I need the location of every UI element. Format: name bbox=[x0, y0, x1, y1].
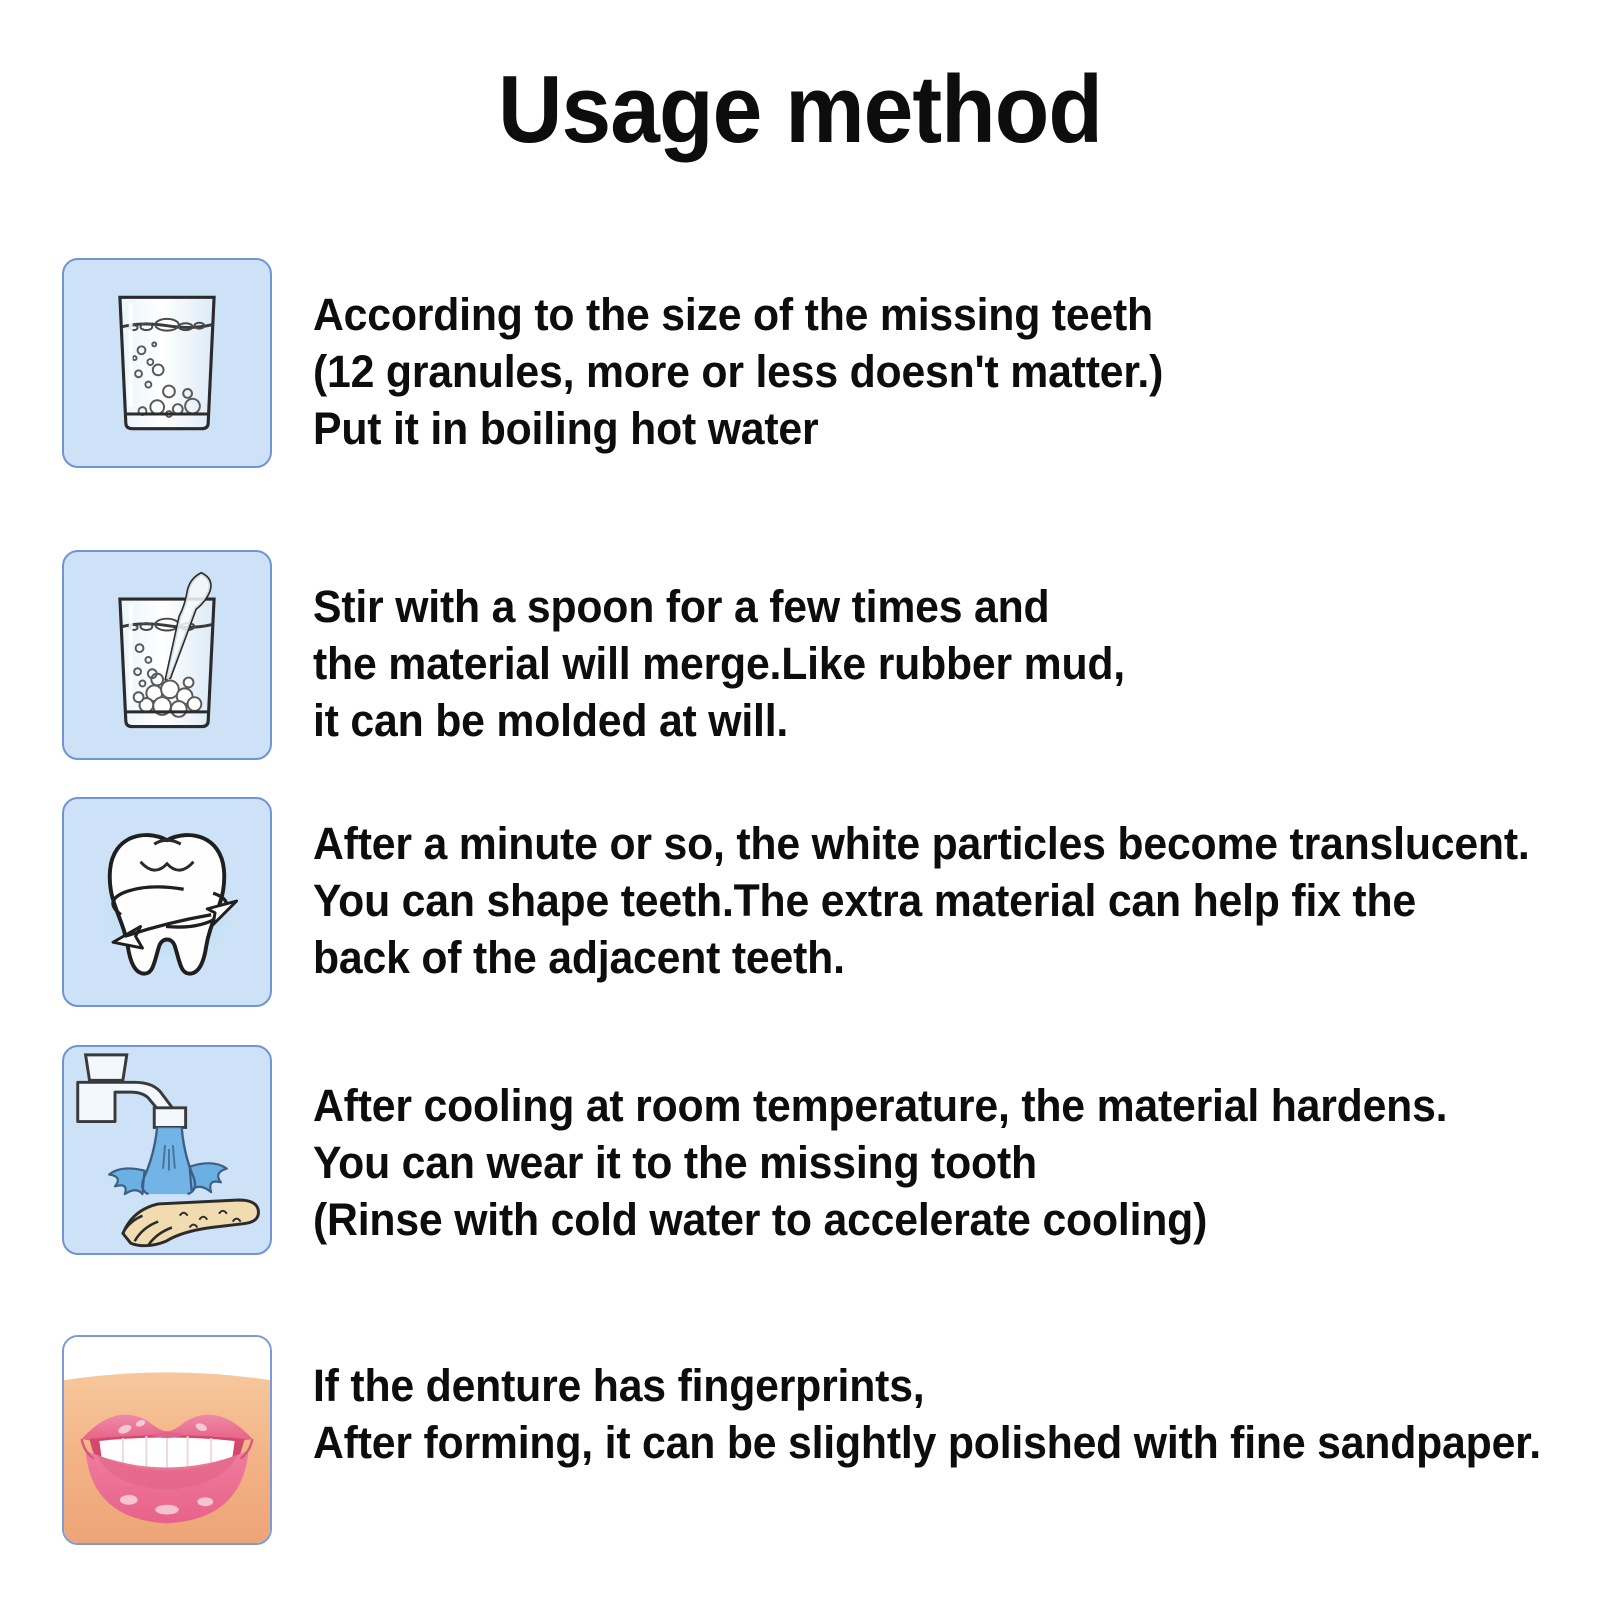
step-line: After a minute or so, the white particle… bbox=[313, 815, 1530, 872]
step-line: back of the adjacent teeth. bbox=[313, 929, 1530, 986]
step-line: Stir with a spoon for a few times and bbox=[313, 578, 1125, 635]
step-line: You can shape teeth.The extra material c… bbox=[313, 872, 1530, 929]
step-item: After a minute or so, the white particle… bbox=[0, 785, 1600, 1035]
step-line: Put it in boiling hot water bbox=[313, 400, 1163, 457]
glass-of-boiling-water-icon bbox=[62, 258, 272, 468]
page-title: Usage method bbox=[56, 62, 1544, 158]
faucet-rinsing-hands-icon bbox=[62, 1045, 272, 1255]
step-line: After cooling at room temperature, the m… bbox=[313, 1077, 1447, 1134]
step-line: You can wear it to the missing tooth bbox=[313, 1134, 1447, 1191]
step-line: (Rinse with cold water to accelerate coo… bbox=[313, 1191, 1447, 1248]
steps-list: According to the size of the missing tee… bbox=[0, 258, 1600, 1537]
step-line: If the denture has fingerprints, bbox=[313, 1357, 1541, 1414]
step-text: After a minute or so, the white particle… bbox=[313, 815, 1530, 986]
step-text: After cooling at room temperature, the m… bbox=[313, 1077, 1447, 1248]
step-item: After cooling at room temperature, the m… bbox=[0, 1035, 1600, 1297]
step-item: According to the size of the missing tee… bbox=[0, 258, 1600, 533]
step-line: (12 granules, more or less doesn't matte… bbox=[313, 343, 1163, 400]
step-line: According to the size of the missing tee… bbox=[313, 286, 1163, 343]
step-item: If the denture has fingerprints, After f… bbox=[0, 1297, 1600, 1537]
step-line: After forming, it can be slightly polish… bbox=[313, 1414, 1541, 1471]
step-item: Stir with a spoon for a few times and th… bbox=[0, 533, 1600, 785]
step-text: Stir with a spoon for a few times and th… bbox=[313, 578, 1125, 749]
step-text: According to the size of the missing tee… bbox=[313, 286, 1163, 457]
step-line: it can be molded at will. bbox=[313, 692, 1125, 749]
step-line: the material will merge.Like rubber mud, bbox=[313, 635, 1125, 692]
smiling-mouth-teeth-icon bbox=[62, 1335, 272, 1545]
usage-method-instruction-sheet: Usage method bbox=[0, 0, 1600, 1600]
step-text: If the denture has fingerprints, After f… bbox=[313, 1357, 1541, 1471]
tooth-shaping-arrows-icon bbox=[62, 797, 272, 1007]
glass-with-spoon-stirring-icon bbox=[62, 550, 272, 760]
